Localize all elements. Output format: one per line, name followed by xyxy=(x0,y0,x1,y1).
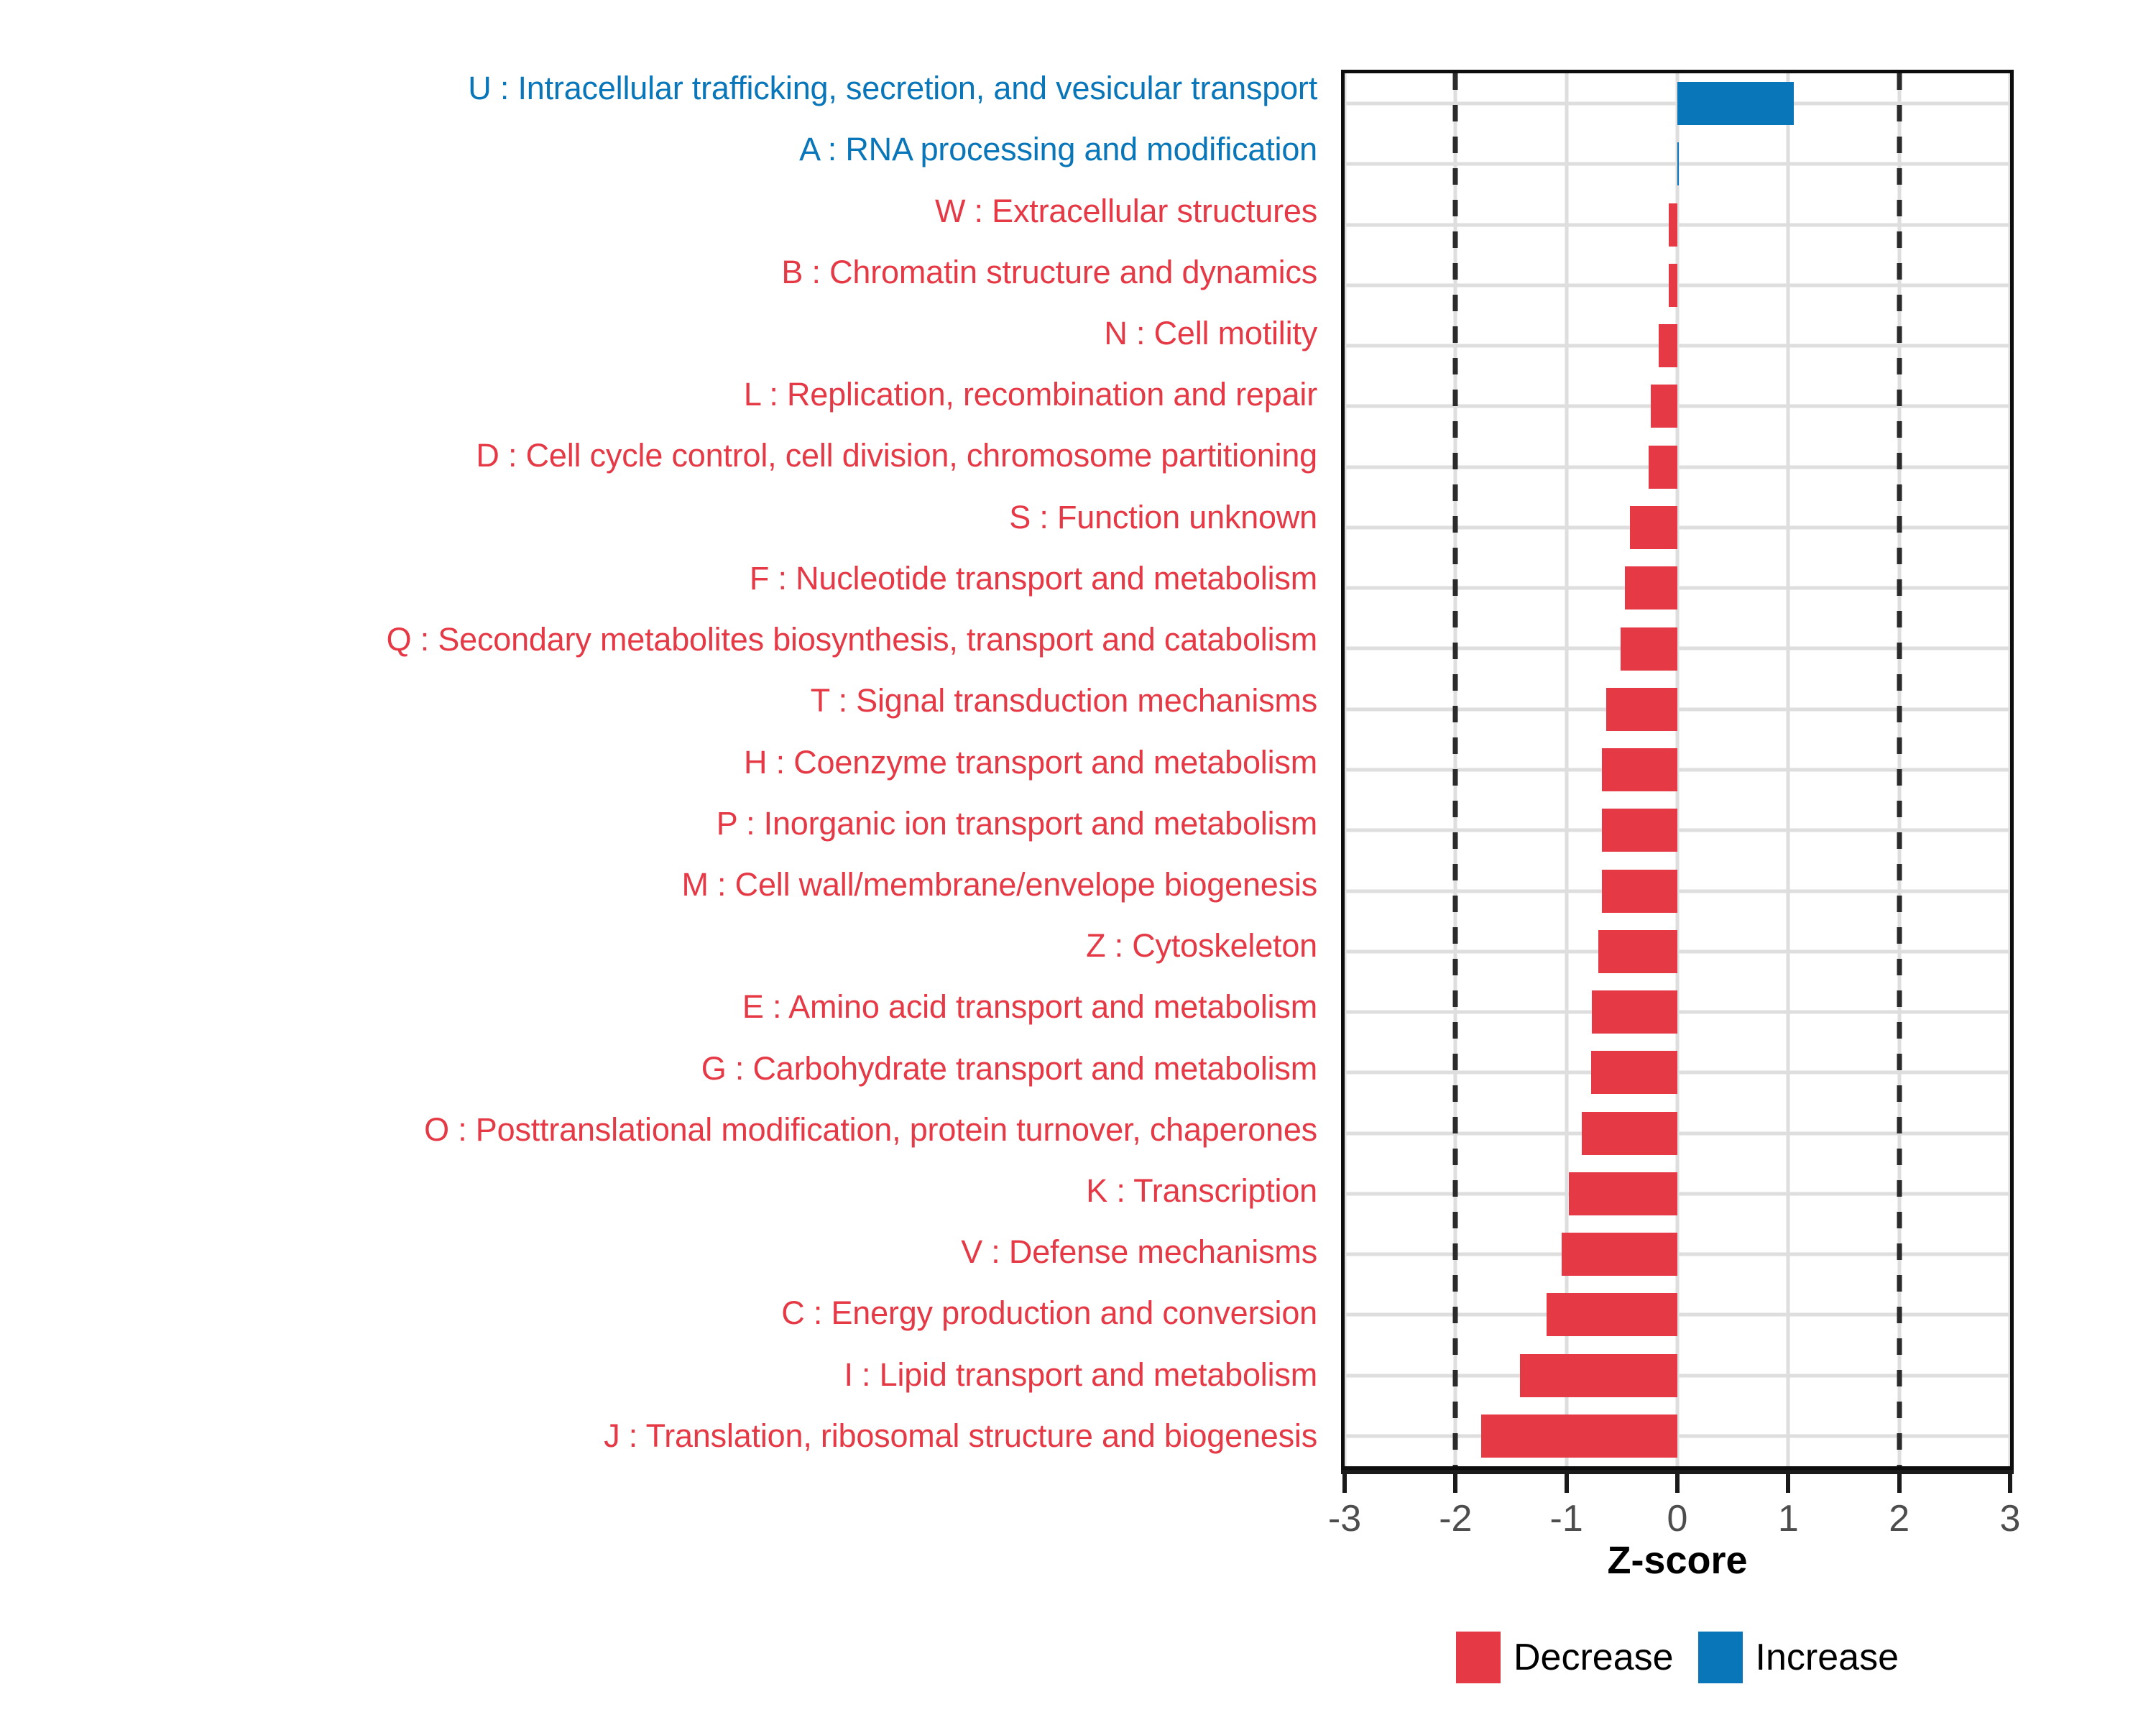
category-label: C : Energy production and conversion xyxy=(781,1297,1317,1329)
category-label: N : Cell motility xyxy=(1104,317,1317,349)
bar[interactable] xyxy=(1602,870,1677,913)
category-label: D : Cell cycle control, cell division, c… xyxy=(476,439,1317,471)
category-label-row: F : Nucleotide transport and metabolism xyxy=(0,548,1333,609)
legend-item[interactable]: Increase xyxy=(1698,1632,1899,1683)
category-label: A : RNA processing and modification xyxy=(799,133,1317,165)
bar[interactable] xyxy=(1677,82,1794,125)
bar[interactable] xyxy=(1630,506,1677,549)
legend-label: Increase xyxy=(1756,1636,1899,1679)
bar[interactable] xyxy=(1677,142,1679,185)
category-label-row: H : Coenzyme transport and metabolism xyxy=(0,731,1333,792)
category-label: O : Posttranslational modification, prot… xyxy=(424,1113,1317,1146)
category-label: J : Translation, ribosomal structure and… xyxy=(604,1420,1317,1452)
category-label: B : Chromatin structure and dynamics xyxy=(781,256,1317,288)
category-label: I : Lipid transport and metabolism xyxy=(844,1358,1317,1391)
x-axis-tick xyxy=(1565,1474,1569,1493)
legend-item[interactable]: Decrease xyxy=(1456,1632,1674,1683)
chart-root: U : Intracellular trafficking, secretion… xyxy=(0,0,2156,1725)
category-label-row: W : Extracellular structures xyxy=(0,180,1333,241)
category-label-row: D : Cell cycle control, cell division, c… xyxy=(0,425,1333,486)
plot-panel xyxy=(1341,70,2014,1470)
bar[interactable] xyxy=(1602,748,1677,791)
x-axis-tick xyxy=(1897,1474,1902,1493)
bar[interactable] xyxy=(1649,446,1677,489)
category-label-row: O : Posttranslational modification, prot… xyxy=(0,1099,1333,1160)
bar-row[interactable] xyxy=(1345,740,2010,800)
category-label-row: S : Function unknown xyxy=(0,487,1333,548)
bar[interactable] xyxy=(1659,324,1677,367)
bar[interactable] xyxy=(1651,385,1677,428)
bar-row[interactable] xyxy=(1345,1406,2010,1466)
category-label-row: N : Cell motility xyxy=(0,303,1333,364)
category-label: H : Coenzyme transport and metabolism xyxy=(744,746,1317,778)
x-axis-tick xyxy=(1453,1474,1457,1493)
bar-row[interactable] xyxy=(1345,134,2010,194)
category-label: F : Nucleotide transport and metabolism xyxy=(750,562,1317,594)
category-label: Z : Cytoskeleton xyxy=(1086,929,1317,962)
x-axis-tick xyxy=(1675,1474,1680,1493)
category-label: W : Extracellular structures xyxy=(935,195,1317,227)
x-axis-tick-label: 2 xyxy=(1889,1497,1909,1540)
bar-row[interactable] xyxy=(1345,1164,2010,1224)
category-label-row: E : Amino acid transport and metabolism xyxy=(0,976,1333,1037)
category-label-row: L : Replication, recombination and repai… xyxy=(0,364,1333,425)
category-label: G : Carbohydrate transport and metabolis… xyxy=(701,1052,1317,1085)
category-label-row: V : Defense mechanisms xyxy=(0,1221,1333,1282)
category-label: E : Amino acid transport and metabolism xyxy=(742,990,1317,1023)
category-label-row: K : Transcription xyxy=(0,1160,1333,1221)
category-label-row: Z : Cytoskeleton xyxy=(0,915,1333,976)
bar[interactable] xyxy=(1625,566,1677,609)
bar[interactable] xyxy=(1598,930,1677,973)
category-label-row: I : Lipid transport and metabolism xyxy=(0,1344,1333,1405)
category-label-row: Q : Secondary metabolites biosynthesis, … xyxy=(0,609,1333,670)
category-label: V : Defense mechanisms xyxy=(961,1236,1317,1268)
legend-swatch xyxy=(1698,1632,1743,1683)
bar[interactable] xyxy=(1606,688,1677,731)
category-label: L : Replication, recombination and repai… xyxy=(744,378,1317,410)
bar[interactable] xyxy=(1562,1233,1677,1276)
category-label-row: M : Cell wall/membrane/envelope biogenes… xyxy=(0,854,1333,915)
category-label: K : Transcription xyxy=(1086,1174,1317,1207)
category-label: M : Cell wall/membrane/envelope biogenes… xyxy=(681,868,1317,901)
bar[interactable] xyxy=(1569,1172,1677,1215)
bar-row[interactable] xyxy=(1345,618,2010,678)
bar[interactable] xyxy=(1547,1293,1677,1336)
x-axis-tick-label: 0 xyxy=(1667,1497,1688,1540)
bar[interactable] xyxy=(1591,1051,1677,1094)
category-label-row: A : RNA processing and modification xyxy=(0,119,1333,180)
bar-row[interactable] xyxy=(1345,255,2010,316)
bar-row[interactable] xyxy=(1345,1042,2010,1103)
x-axis-tick-label: -1 xyxy=(1550,1497,1583,1540)
bar-row[interactable] xyxy=(1345,437,2010,497)
bar-row[interactable] xyxy=(1345,316,2010,376)
x-axis-tick xyxy=(2008,1474,2012,1493)
bar-row[interactable] xyxy=(1345,1224,2010,1284)
bar[interactable] xyxy=(1582,1112,1677,1155)
category-label-row: B : Chromatin structure and dynamics xyxy=(0,241,1333,303)
bar[interactable] xyxy=(1602,809,1677,852)
legend-label: Decrease xyxy=(1514,1636,1674,1679)
bar[interactable] xyxy=(1669,264,1677,307)
category-label-row: J : Translation, ribosomal structure and… xyxy=(0,1405,1333,1466)
bar-row[interactable] xyxy=(1345,982,2010,1042)
x-axis-tick xyxy=(1342,1474,1347,1493)
category-label: T : Signal transduction mechanisms xyxy=(811,684,1317,717)
bar[interactable] xyxy=(1621,627,1677,671)
bar-row[interactable] xyxy=(1345,195,2010,255)
bar-row[interactable] xyxy=(1345,921,2010,982)
bar[interactable] xyxy=(1481,1414,1677,1458)
bar-series xyxy=(1345,73,2010,1466)
category-axis-labels: U : Intracellular trafficking, secretion… xyxy=(0,57,1333,1466)
category-label-row: U : Intracellular trafficking, secretion… xyxy=(0,57,1333,119)
category-label-row: C : Energy production and conversion xyxy=(0,1282,1333,1343)
bar-row[interactable] xyxy=(1345,558,2010,618)
category-label-row: T : Signal transduction mechanisms xyxy=(0,670,1333,731)
category-label: Q : Secondary metabolites biosynthesis, … xyxy=(387,623,1317,655)
x-axis-title: Z-score xyxy=(1341,1538,2014,1583)
legend: DecreaseIncrease xyxy=(1341,1632,2014,1683)
bar-row[interactable] xyxy=(1345,679,2010,740)
bar-row[interactable] xyxy=(1345,497,2010,558)
bar[interactable] xyxy=(1520,1354,1677,1397)
legend-swatch xyxy=(1456,1632,1501,1683)
x-axis-tick-label: -3 xyxy=(1328,1497,1361,1540)
category-label: S : Function unknown xyxy=(1009,501,1317,533)
x-axis-tick xyxy=(1786,1474,1790,1493)
bar[interactable] xyxy=(1669,203,1677,247)
category-label: P : Inorganic ion transport and metaboli… xyxy=(717,807,1317,839)
category-label: U : Intracellular trafficking, secretion… xyxy=(468,72,1317,104)
category-label-row: G : Carbohydrate transport and metabolis… xyxy=(0,1038,1333,1099)
bar-row[interactable] xyxy=(1345,800,2010,860)
x-axis-tick-label: -2 xyxy=(1439,1497,1472,1540)
bar-row[interactable] xyxy=(1345,73,2010,134)
category-label-row: P : Inorganic ion transport and metaboli… xyxy=(0,793,1333,854)
x-axis-tick-label: 1 xyxy=(1778,1497,1799,1540)
x-axis-tick-label: 3 xyxy=(2000,1497,2021,1540)
bar-row[interactable] xyxy=(1345,1345,2010,1406)
bar-row[interactable] xyxy=(1345,376,2010,436)
bar-row[interactable] xyxy=(1345,1284,2010,1345)
bar[interactable] xyxy=(1592,990,1677,1034)
bar-row[interactable] xyxy=(1345,860,2010,921)
bar-row[interactable] xyxy=(1345,1103,2010,1164)
